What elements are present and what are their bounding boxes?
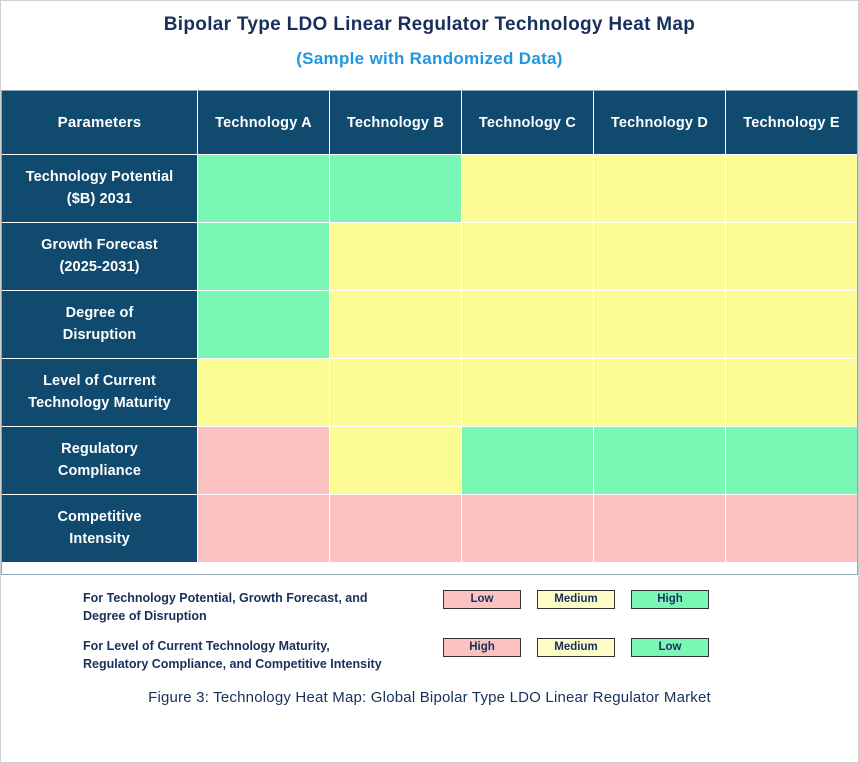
legend-description-1: For Technology Potential, Growth Forecas… [83, 589, 443, 625]
heatmap-cell [726, 155, 858, 223]
heatmap-body: Technology Potential($B) 2031Growth Fore… [2, 155, 858, 563]
table-row: Level of CurrentTechnology Maturity [2, 359, 858, 427]
column-header-technology-d: Technology D [594, 91, 726, 155]
heatmap-cell [594, 359, 726, 427]
row-header-2: Growth Forecast(2025-2031) [2, 223, 198, 291]
column-header-technology-b: Technology B [330, 91, 462, 155]
heatmap-cell [330, 359, 462, 427]
legend: For Technology Potential, Growth Forecas… [1, 589, 858, 686]
heatmap-cell [594, 495, 726, 563]
legend-swatch-low: Low [443, 590, 521, 609]
row-header-3: Degree ofDisruption [2, 291, 198, 359]
column-header-technology-e: Technology E [726, 91, 858, 155]
legend-description-2: For Level of Current Technology Maturity… [83, 637, 443, 673]
row-header-5: RegulatoryCompliance [2, 427, 198, 495]
heatmap-cell [594, 291, 726, 359]
heatmap-cell [594, 223, 726, 291]
table-row: Growth Forecast(2025-2031) [2, 223, 858, 291]
page-subtitle: (Sample with Randomized Data) [1, 49, 858, 69]
row-header-4: Level of CurrentTechnology Maturity [2, 359, 198, 427]
legend-swatch-medium: Medium [537, 590, 615, 609]
heatmap-cell [594, 155, 726, 223]
table-row: CompetitiveIntensity [2, 495, 858, 563]
heatmap-cell [330, 427, 462, 495]
heatmap-cell [330, 223, 462, 291]
heatmap-cell [330, 155, 462, 223]
heatmap-cell [462, 495, 594, 563]
table-header-row: Parameters Technology A Technology B Tec… [2, 91, 858, 155]
column-header-technology-a: Technology A [198, 91, 330, 155]
table-row: Degree ofDisruption [2, 291, 858, 359]
heatmap-cell [726, 223, 858, 291]
heatmap-cell [198, 155, 330, 223]
heatmap-cell [462, 359, 594, 427]
heatmap-table: Parameters Technology A Technology B Tec… [1, 90, 858, 563]
legend-row: For Level of Current Technology Maturity… [1, 637, 858, 673]
legend-row: For Technology Potential, Growth Forecas… [1, 589, 858, 625]
heatmap-cell [198, 427, 330, 495]
legend-swatch-low: Low [631, 638, 709, 657]
row-header-6: CompetitiveIntensity [2, 495, 198, 563]
heatmap-cell [462, 291, 594, 359]
title-block: Bipolar Type LDO Linear Regulator Techno… [1, 1, 858, 69]
heatmap-cell [462, 427, 594, 495]
legend-swatch-high: High [443, 638, 521, 657]
heatmap-cell [726, 359, 858, 427]
row-header-1: Technology Potential($B) 2031 [2, 155, 198, 223]
page-title: Bipolar Type LDO Linear Regulator Techno… [1, 13, 858, 37]
heatmap-cell [726, 427, 858, 495]
table-row: Technology Potential($B) 2031 [2, 155, 858, 223]
heatmap-cell [198, 359, 330, 427]
legend-swatch-high: High [631, 590, 709, 609]
column-header-technology-c: Technology C [462, 91, 594, 155]
heatmap-cell [726, 291, 858, 359]
table-row: RegulatoryCompliance [2, 427, 858, 495]
column-header-parameters: Parameters [2, 91, 198, 155]
heatmap-cell [198, 495, 330, 563]
legend-swatch-group: LowMediumHigh [443, 590, 709, 609]
heatmap-cell [594, 427, 726, 495]
heatmap-cell [198, 291, 330, 359]
heatmap-cell [330, 291, 462, 359]
heatmap-cell [330, 495, 462, 563]
figure-caption: Figure 3: Technology Heat Map: Global Bi… [1, 689, 858, 706]
heatmap-cell [726, 495, 858, 563]
heatmap-cell [462, 223, 594, 291]
legend-swatch-group: HighMediumLow [443, 638, 709, 657]
heatmap-cell [198, 223, 330, 291]
heatmap-table-wrap: Parameters Technology A Technology B Tec… [1, 90, 858, 563]
legend-swatch-medium: Medium [537, 638, 615, 657]
heatmap-page: Bipolar Type LDO Linear Regulator Techno… [0, 0, 859, 763]
heatmap-cell [462, 155, 594, 223]
